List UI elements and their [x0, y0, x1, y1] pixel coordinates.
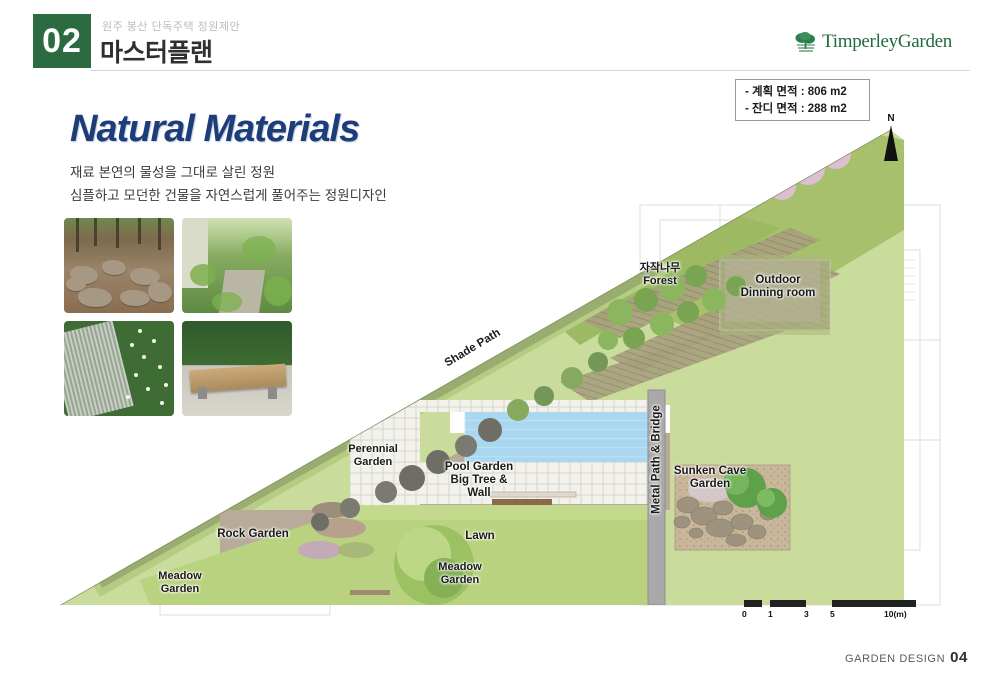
scale-bar-graphic: [744, 600, 916, 607]
scale-tick-5: 5: [830, 609, 835, 619]
footer-label: GARDEN DESIGN: [845, 653, 945, 665]
label-rock-garden: Rock Garden: [205, 528, 301, 541]
label-perennial-garden: Perennial Garden: [336, 443, 410, 469]
footer: GARDEN DESIGN04: [845, 649, 968, 666]
section-subtitle: 원주 봉산 단독주택 정원제안: [102, 18, 240, 34]
label-birch-forest: 자작나무 Forest: [620, 262, 700, 288]
page-title: 마스터플랜: [100, 33, 213, 69]
masterplan-drawing: 자작나무 Forest Outdoor Dinning room Shade P…: [20, 110, 965, 630]
footer-page-number: 04: [950, 649, 968, 666]
label-meadow-garden-1: Meadow Garden: [140, 570, 220, 596]
scale-tick-10: 10(m): [884, 609, 907, 619]
rock-garden-shrub: [278, 627, 298, 630]
brand-logo: TimperleyGarden: [793, 31, 952, 53]
section-number-badge: 02: [33, 14, 91, 68]
label-outdoor-dinning: Outdoor Dinning room: [722, 274, 834, 300]
north-label: N: [884, 113, 898, 124]
planned-area-value: - 계획 면적 : 806 m2: [745, 84, 869, 101]
slide-root: 02 원주 봉산 단독주택 정원제안 마스터플랜 TimperleyGarden…: [0, 0, 1000, 680]
label-sunken-cave-garden: Sunken Cave Garden: [660, 465, 760, 491]
scale-tick-0: 0: [742, 609, 747, 619]
header-divider: [90, 70, 970, 71]
north-arrow-icon: [884, 125, 898, 161]
site-area: [58, 130, 904, 630]
scale-bar: 0 1 3 5 10(m): [744, 600, 916, 607]
label-lawn: Lawn: [452, 530, 508, 543]
label-meadow-garden-2: Meadow Garden: [420, 561, 500, 587]
scale-tick-3: 3: [804, 609, 809, 619]
label-pool-garden: Pool Garden Big Tree & Wall: [427, 461, 531, 500]
brand-logo-text: TimperleyGarden: [822, 31, 952, 53]
scale-tick-1: 1: [768, 609, 773, 619]
masterplan-svg: [20, 110, 965, 630]
tree-icon: [793, 31, 819, 53]
north-indicator: N: [884, 113, 898, 161]
label-metal-path-bridge: Metal Path & Bridge: [651, 390, 664, 530]
